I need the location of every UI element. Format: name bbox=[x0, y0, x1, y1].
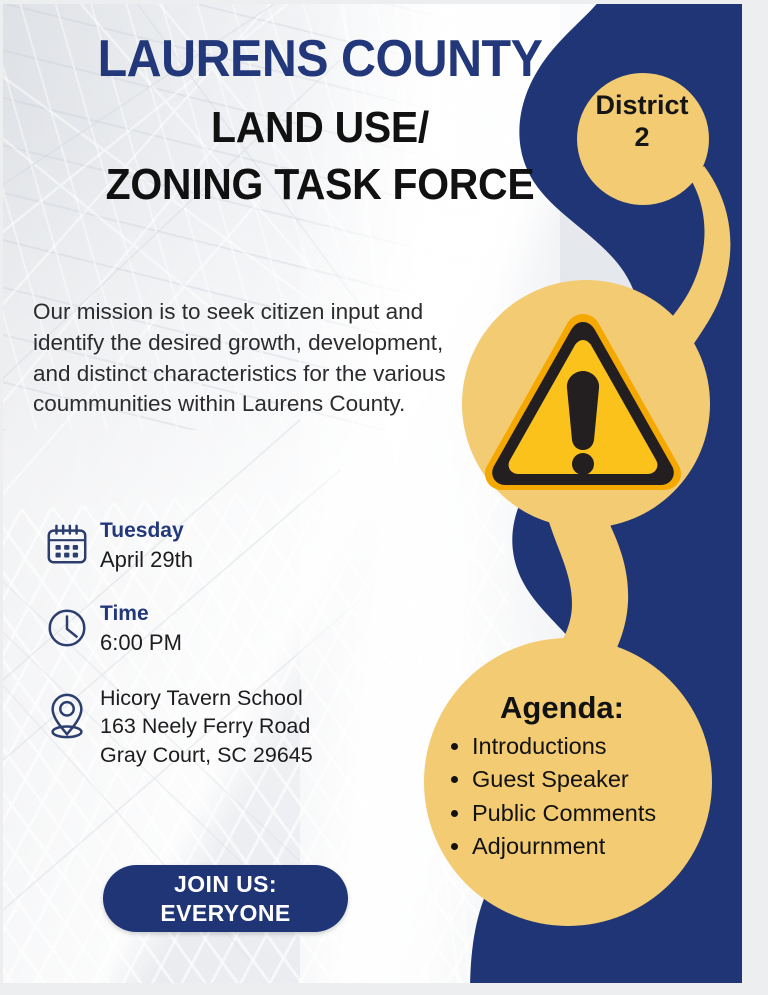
date-day-label: Tuesday bbox=[100, 518, 193, 544]
time-value: 6:00 PM bbox=[100, 629, 182, 658]
agenda-list: Introductions Guest Speaker Public Comme… bbox=[436, 730, 688, 863]
agenda-item: Guest Speaker bbox=[472, 763, 688, 796]
district-badge-label: District bbox=[577, 90, 707, 122]
venue-name: Hicory Tavern School bbox=[100, 684, 313, 713]
agenda-item: Public Comments bbox=[472, 797, 688, 830]
street-address: 163 Neely Ferry Road bbox=[100, 712, 313, 741]
district-badge: District 2 bbox=[577, 90, 707, 154]
agenda-item: Introductions bbox=[472, 730, 688, 763]
detail-text-time: Time 6:00 PM bbox=[100, 601, 182, 658]
subtitle-line-2: ZONING TASK FORCE bbox=[22, 157, 617, 212]
district-badge-number: 2 bbox=[577, 122, 707, 154]
poster-canvas: LAURENS COUNTY LAND USE/ ZONING TASK FOR… bbox=[0, 0, 768, 995]
agenda-title: Agenda: bbox=[436, 690, 688, 726]
join-us-button[interactable]: JOIN US: EVERYONE bbox=[103, 865, 348, 932]
clock-icon bbox=[44, 601, 100, 656]
event-details: Tuesday April 29th Time 6:00 PM bbox=[44, 518, 444, 795]
detail-text-location: Hicory Tavern School 163 Neely Ferry Roa… bbox=[100, 684, 313, 770]
page-title: LAURENS COUNTY bbox=[22, 32, 617, 86]
subtitle-line-1: LAND USE/ bbox=[22, 100, 617, 155]
date-value: April 29th bbox=[100, 546, 193, 575]
agenda-item: Adjournment bbox=[472, 830, 688, 863]
detail-row-date: Tuesday April 29th bbox=[44, 518, 444, 575]
detail-row-location: Hicory Tavern School 163 Neely Ferry Roa… bbox=[44, 684, 444, 770]
agenda-block: Agenda: Introductions Guest Speaker Publ… bbox=[436, 690, 688, 863]
calendar-icon bbox=[44, 518, 100, 573]
join-us-line-1: JOIN US: bbox=[174, 870, 277, 899]
map-pin-icon bbox=[44, 684, 100, 747]
headline-block: LAURENS COUNTY LAND USE/ ZONING TASK FOR… bbox=[0, 32, 640, 212]
mission-statement: Our mission is to seek citizen input and… bbox=[33, 297, 453, 420]
time-label: Time bbox=[100, 601, 182, 627]
detail-row-time: Time 6:00 PM bbox=[44, 601, 444, 658]
detail-text-date: Tuesday April 29th bbox=[100, 518, 193, 575]
join-us-line-2: EVERYONE bbox=[160, 899, 290, 928]
city-state-zip: Gray Court, SC 29645 bbox=[100, 741, 313, 770]
